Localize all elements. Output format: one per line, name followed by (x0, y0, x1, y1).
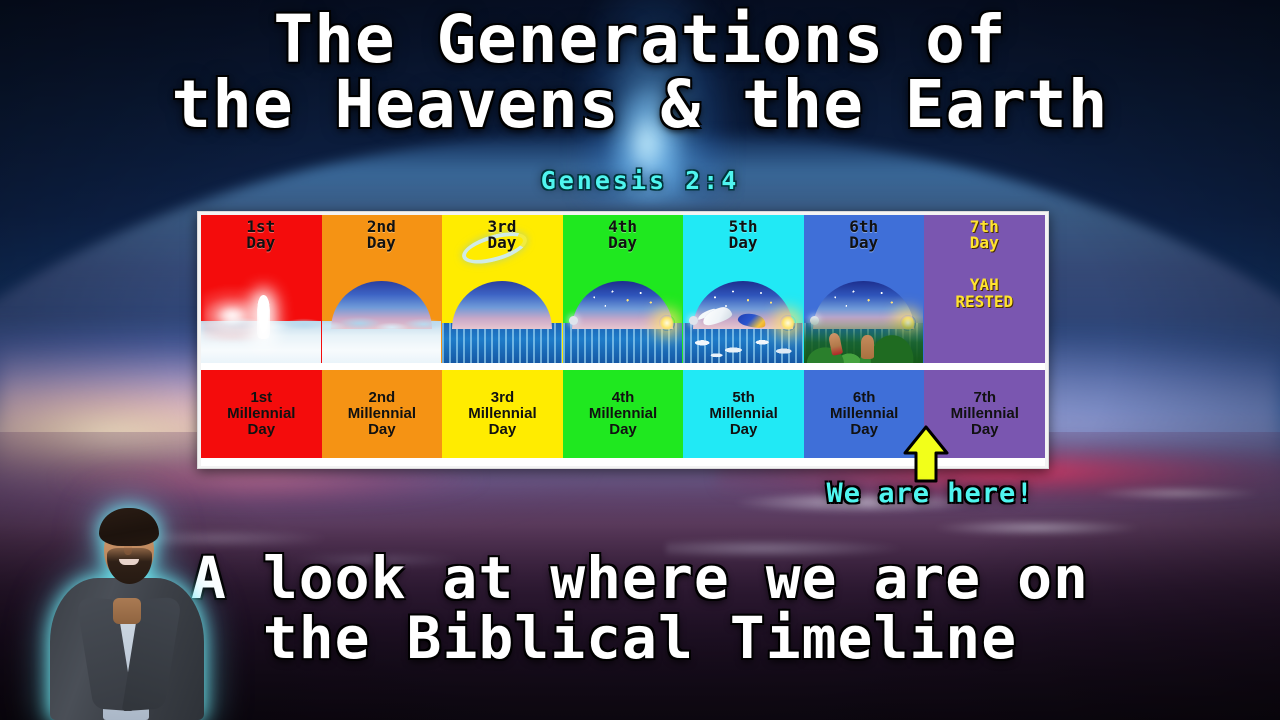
neck (113, 598, 141, 624)
tagline-line-2: the Biblical Timeline (263, 604, 1017, 672)
wave-line (322, 317, 443, 333)
firmament-dome-icon (452, 281, 552, 329)
creation-day-4-scene (563, 285, 683, 363)
title-line-2: the Heavens & the Earth (0, 73, 1280, 138)
creation-day-1-cell[interactable]: 1stDay (201, 215, 322, 363)
creation-day-6-cell[interactable]: 6thDay (804, 215, 925, 363)
millennial-day-7-label: 7thMillennialDay (951, 390, 1019, 439)
creation-day-7-cell[interactable]: 7thDay YAHRESTED (924, 215, 1045, 363)
creation-day-1-label: 1stDay (246, 219, 275, 251)
creation-days-row: 1stDay 2ndDay (201, 215, 1045, 363)
millennial-day-4-cell[interactable]: 4thMillennialDay (563, 370, 684, 458)
deep-sea (442, 323, 562, 363)
video-thumbnail: The Generations of the Heavens & the Ear… (0, 0, 1280, 720)
creation-day-3-label: 3rdDay (487, 219, 516, 251)
fish-icon (683, 335, 803, 361)
creation-day-2-scene (322, 285, 442, 363)
chart-row-divider (201, 363, 1045, 370)
we-are-here-caption: We are here! (770, 478, 1090, 509)
millennial-day-2-label: 2ndMillennialDay (348, 390, 416, 439)
millennial-day-3-cell[interactable]: 3rdMillennialDay (442, 370, 563, 458)
up-arrow-icon (903, 425, 949, 483)
creation-day-4-cell[interactable]: 4thDay (563, 215, 684, 363)
creation-day-5-scene (683, 285, 803, 363)
mouth (119, 559, 139, 565)
presenter-portrait (47, 498, 207, 720)
creation-day-7-label: 7thDay (970, 219, 999, 251)
millennial-day-5-cell[interactable]: 5thMillennialDay (683, 370, 804, 458)
creation-day-4-label: 4thDay (608, 219, 637, 251)
creation-day-5-cell[interactable]: 5thDay (683, 215, 804, 363)
scripture-reference: Genesis 2:4 (0, 166, 1280, 195)
creation-day-5-label: 5thDay (729, 219, 758, 251)
creation-day-3-scene (442, 285, 562, 363)
creation-day-2-cell[interactable]: 2ndDay (322, 215, 443, 363)
hair (99, 508, 159, 546)
millennial-day-2-cell[interactable]: 2ndMillennialDay (322, 370, 443, 458)
creation-day-6-scene (804, 285, 924, 363)
creation-day-6-label: 6thDay (849, 219, 878, 251)
glowing-figure-icon (257, 295, 270, 339)
yah-rested-label: YAHRESTED (955, 277, 1013, 311)
millennial-day-3-label: 3rdMillennialDay (468, 390, 536, 439)
tagline-line-1: A look at where we are on (191, 544, 1089, 612)
sun-icon (780, 315, 796, 331)
millennial-day-4-label: 4thMillennialDay (589, 390, 657, 439)
millennial-day-5-label: 5thMillennialDay (709, 390, 777, 439)
page-title: The Generations of the Heavens & the Ear… (0, 8, 1280, 137)
moon-icon (569, 316, 578, 325)
creation-day-1-scene (201, 285, 321, 363)
creation-day-2-label: 2ndDay (367, 219, 396, 251)
millennial-day-1-cell[interactable]: 1stMillennialDay (201, 370, 322, 458)
man-figure-icon (861, 335, 874, 359)
millennial-day-1-label: 1stMillennialDay (227, 390, 295, 439)
millennial-day-6-label: 6thMillennialDay (830, 390, 898, 439)
starry-dome-icon (572, 281, 672, 329)
creation-day-3-cell[interactable]: 3rdDay (442, 215, 563, 363)
